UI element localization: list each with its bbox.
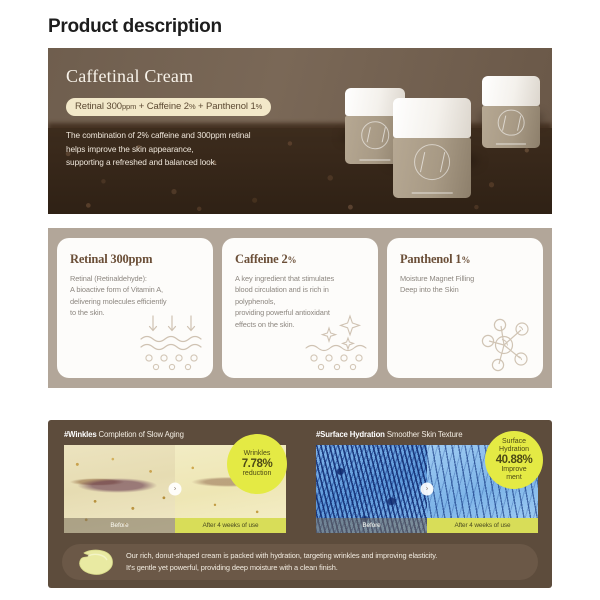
jar-label-line — [496, 143, 526, 145]
ingredient-card-caffeine: Caffeine 2% A key ingredient that stimul… — [222, 238, 378, 378]
jar-front-center — [393, 98, 471, 198]
cream-dollop-icon — [76, 547, 116, 577]
card-title-text: Panthenol 1 — [400, 252, 461, 266]
summary-text: Our rich, donut-shaped cream is packed w… — [126, 550, 437, 574]
badge-part-2: + Caffeine 2 — [136, 101, 189, 112]
badge-unit-3: % — [256, 102, 263, 111]
status-badge-wrinkles: Wrinkles 7.78% reduction — [227, 434, 287, 494]
before-image: Before — [316, 445, 427, 533]
brand-logo-icon — [498, 109, 525, 136]
badge-part-3: + Panthenol 1 — [196, 101, 256, 112]
panel-label: #Surface Hydration Smoother Skin Texture — [316, 430, 462, 439]
card-title-text: Caffeine 2 — [235, 252, 288, 266]
product-name: Caffetinal Cream — [66, 66, 356, 87]
hero-description-line-2: helps improve the skin appearance, — [66, 143, 356, 157]
brand-logo-icon — [414, 144, 450, 180]
card-body: Retinal (Retinaldehyde): A bioactive for… — [70, 273, 200, 319]
jar-back-right — [482, 76, 540, 148]
ingredient-cards-section: Retinal 300ppm Retinal (Retinaldehyde): … — [48, 228, 552, 388]
badge-sub: reduction — [243, 470, 272, 478]
panel-label: #Winkles Completion of Slow Aging — [64, 430, 184, 439]
product-jars-photo — [341, 54, 546, 204]
summary-line-2: It's gentle yet powerful, providing deep… — [126, 562, 437, 574]
before-image: Before — [64, 445, 175, 533]
result-panel-hydration: #Surface Hydration Smoother Skin Texture… — [300, 420, 552, 542]
jar-body — [393, 138, 471, 198]
summary-line-1: Our rich, donut-shaped cream is packed w… — [126, 550, 437, 562]
hero-description-line-1: The combination of 2% caffeine and 300pp… — [66, 129, 356, 143]
jar-label-line — [359, 159, 390, 161]
panel-tag: #Winkles — [64, 430, 97, 439]
sparkles-waves-droplets-icon — [304, 314, 370, 372]
panel-tag: #Surface Hydration — [316, 430, 385, 439]
before-caption: Before — [64, 518, 175, 533]
status-badge-hydration: Surface Hydration 40.88% Improve ment — [485, 431, 543, 489]
jar-label-line — [412, 192, 453, 194]
badge-unit-2: % — [189, 102, 196, 111]
jar-lid — [482, 76, 540, 106]
badge-label: Wrinkles — [244, 450, 271, 458]
ingredient-badge: Retinal 300ppm + Caffeine 2% + Panthenol… — [66, 98, 271, 116]
badge-label: Surface Hydration — [499, 438, 529, 454]
after-caption: After 4 weeks of use — [175, 518, 286, 533]
hero-banner: Caffetinal Cream Retinal 300ppm + Caffei… — [48, 48, 552, 214]
card-title-unit: % — [288, 255, 297, 265]
panel-headline: Completion of Slow Aging — [97, 430, 184, 439]
card-title: Retinal 300ppm — [70, 252, 200, 267]
chevron-right-icon: › — [169, 483, 182, 496]
molecule-icon — [473, 314, 535, 376]
jar-lid — [393, 98, 471, 138]
badge-value: 40.88% — [496, 454, 533, 467]
hero-description-line-3: supporting a refreshed and balanced look… — [66, 156, 356, 170]
hero-description: The combination of 2% caffeine and 300pp… — [66, 129, 356, 170]
badge-unit-1: ppm — [122, 102, 136, 111]
card-title-text: Retinal 300ppm — [70, 252, 152, 266]
card-title: Caffeine 2% — [235, 252, 365, 267]
badge-sub: Improve ment — [501, 466, 526, 482]
badge-part-1: Retinal 300 — [75, 101, 122, 112]
ingredient-card-retinal: Retinal 300ppm Retinal (Retinaldehyde): … — [57, 238, 213, 378]
ingredient-card-panthenol: Panthenol 1% Moisture Magnet Filling Dee… — [387, 238, 543, 378]
result-panel-wrinkles: #Winkles Completion of Slow Aging Before… — [48, 420, 300, 542]
summary-bar: Our rich, donut-shaped cream is packed w… — [62, 544, 538, 580]
card-title: Panthenol 1% — [400, 252, 530, 267]
card-body: Moisture Magnet Filling Deep into the Sk… — [400, 273, 530, 296]
hero-text-block: Caffetinal Cream Retinal 300ppm + Caffei… — [66, 66, 356, 170]
card-title-unit: % — [461, 255, 470, 265]
chevron-right-icon: › — [421, 483, 434, 496]
badge-value: 7.78% — [242, 458, 273, 471]
page-title: Product description — [48, 16, 222, 38]
results-section: #Winkles Completion of Slow Aging Before… — [48, 420, 552, 588]
jar-body — [482, 106, 540, 148]
ingredient-cards-row: Retinal 300ppm Retinal (Retinaldehyde): … — [48, 228, 552, 388]
panel-headline: Smoother Skin Texture — [385, 430, 463, 439]
arrows-waves-droplets-icon — [139, 314, 205, 372]
brand-logo-icon — [361, 121, 389, 149]
after-caption: After 4 weeks of use — [427, 518, 538, 533]
before-caption: Before — [316, 518, 427, 533]
